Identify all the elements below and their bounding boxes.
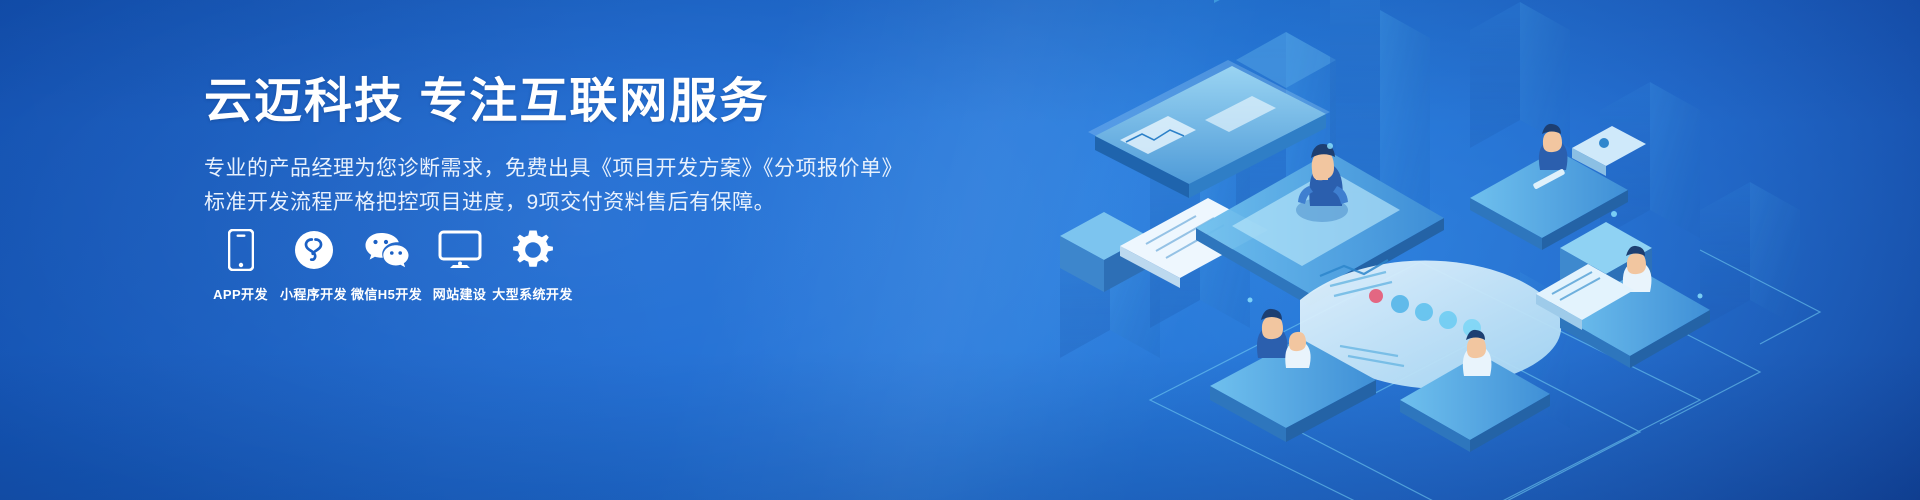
- service-label: 网站建设: [433, 284, 487, 303]
- isometric-team-dashboard-illustration: [1000, 0, 1920, 500]
- service-item-system[interactable]: 大型系统开发: [496, 228, 569, 303]
- monitor-icon: [438, 228, 482, 272]
- gear-icon: [512, 228, 554, 272]
- service-item-miniprogram[interactable]: 小程序开发: [277, 228, 350, 303]
- service-item-website[interactable]: 网站建设: [423, 228, 496, 303]
- service-label: 小程序开发: [280, 284, 347, 303]
- service-list: APP开发 小程序开发: [204, 228, 569, 303]
- subtitle-line-2: 标准开发流程严格把控项目进度，9项交付资料售后有保障。: [204, 186, 964, 220]
- mini-program-icon: [294, 228, 334, 272]
- hero-copy: 云迈科技 专注互联网服务 专业的产品经理为您诊断需求，免费出具《项目开发方案》《…: [204, 74, 964, 220]
- hero-subtitle: 专业的产品经理为您诊断需求，免费出具《项目开发方案》《分项报价单》 标准开发流程…: [204, 152, 964, 220]
- illustration-container: [1000, 0, 1920, 500]
- service-item-wechat[interactable]: 微信H5开发: [350, 228, 423, 303]
- hero-banner: 云迈科技 专注互联网服务 专业的产品经理为您诊断需求，免费出具《项目开发方案》《…: [0, 0, 1920, 500]
- wechat-icon: [364, 228, 410, 272]
- page-title: 云迈科技 专注互联网服务: [204, 74, 964, 130]
- mobile-phone-icon: [228, 228, 254, 272]
- service-item-app[interactable]: APP开发: [204, 228, 277, 303]
- service-label: APP开发: [213, 284, 268, 303]
- service-label: 微信H5开发: [351, 284, 422, 303]
- service-label: 大型系统开发: [492, 284, 572, 303]
- subtitle-line-1: 专业的产品经理为您诊断需求，免费出具《项目开发方案》《分项报价单》: [204, 152, 964, 186]
